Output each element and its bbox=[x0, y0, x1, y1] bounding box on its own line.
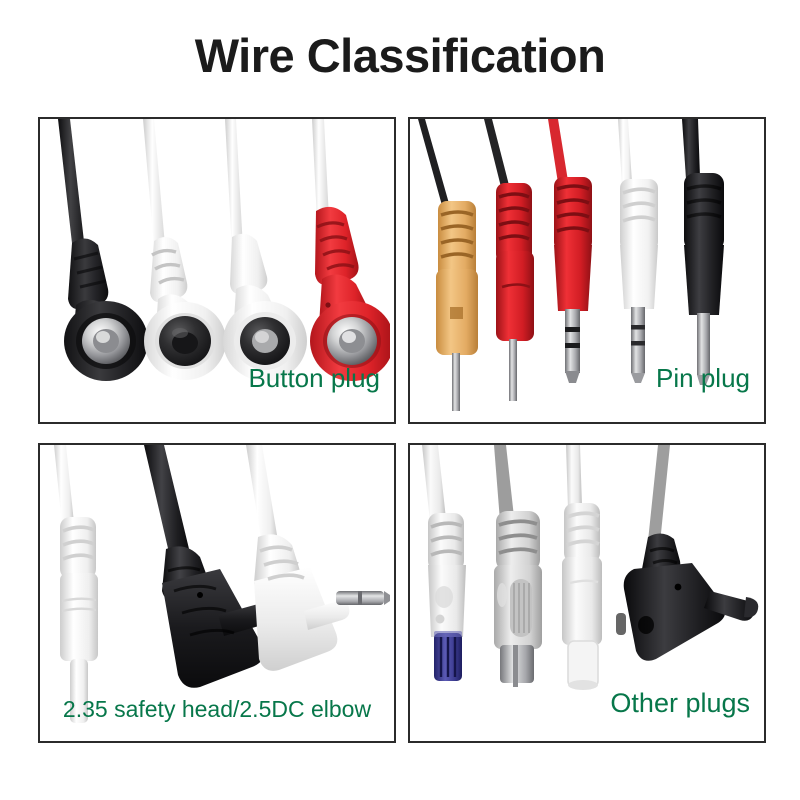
page-title: Wire Classification bbox=[0, 28, 800, 83]
infographic-root: Wire Classification bbox=[0, 0, 800, 800]
panel-other-plugs: Other plugs bbox=[408, 443, 766, 743]
connector-din-connector-grey bbox=[494, 445, 542, 687]
connector-dc-elbow-white bbox=[246, 445, 390, 671]
connector-safety-head-2p35-white bbox=[54, 445, 98, 723]
connector-snap-button-red bbox=[310, 119, 390, 381]
panel-button-plug: Button plug bbox=[38, 117, 396, 424]
connector-plug-3p5mm-white bbox=[618, 119, 658, 383]
connector-snap-button-black bbox=[58, 119, 148, 381]
panel-safety-elbow: 2.35 safety head/2.5DC elbow bbox=[38, 443, 396, 743]
connector-pin-2mm-tan bbox=[418, 119, 478, 411]
panel-label-pin-plug: Pin plug bbox=[656, 363, 750, 394]
connector-right-angle-connector-black bbox=[616, 445, 758, 661]
connector-pin-2mm-red bbox=[484, 119, 534, 401]
connector-snap-button-white-dark-stud bbox=[143, 119, 226, 380]
connector-plug-3p5mm-red bbox=[548, 119, 592, 383]
connector-keyed-connector-blue-tip bbox=[422, 445, 466, 681]
connector-snap-button-white bbox=[223, 119, 307, 381]
connector-round-connector-white bbox=[562, 445, 602, 690]
panel-pin-plug: Pin plug bbox=[408, 117, 766, 424]
panel-label-button-plug: Button plug bbox=[248, 363, 380, 394]
panel-label-other-plugs: Other plugs bbox=[610, 688, 750, 719]
panel-label-safety-elbow: 2.35 safety head/2.5DC elbow bbox=[63, 696, 371, 723]
connector-plug-2p5mm-black bbox=[682, 119, 724, 385]
